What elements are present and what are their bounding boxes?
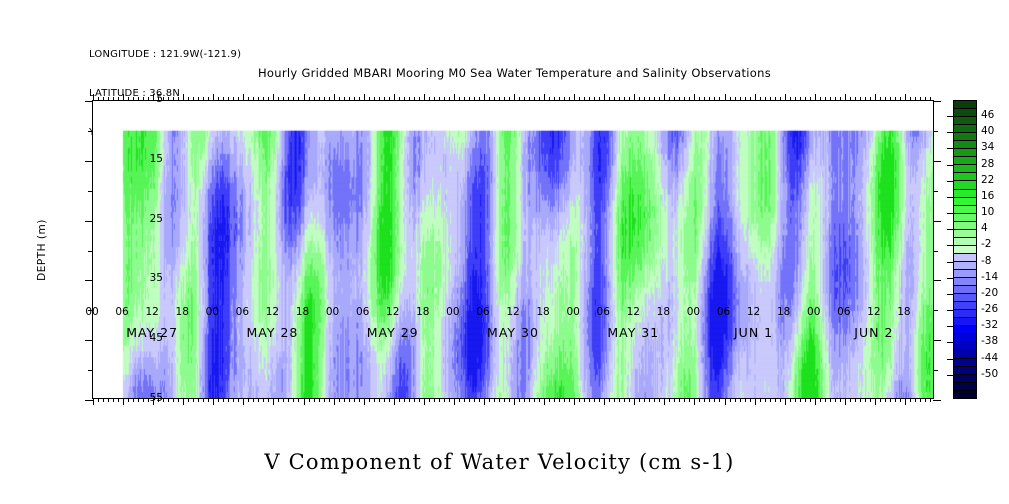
x-tick (790, 398, 791, 402)
x-tick-top (263, 97, 264, 101)
colorbar-band (954, 181, 976, 189)
y-tick (85, 101, 93, 102)
x-tick-top (454, 94, 455, 101)
colorbar-tick (947, 197, 954, 198)
x-tick (233, 398, 234, 402)
x-tick-top (339, 97, 340, 101)
colorbar-band (954, 367, 976, 375)
x-tick (795, 398, 796, 402)
y-axis-title-label: DEPTH (m) (36, 219, 48, 281)
x-tick-top (930, 97, 931, 101)
colorbar-band (954, 125, 976, 133)
y-tick-label: 25 (123, 213, 163, 225)
x-tick (108, 398, 109, 402)
x-tick-top (569, 97, 570, 101)
colorbar-tick-label: 46 (981, 109, 994, 121)
x-tick-top (609, 97, 610, 101)
x-tick-top (419, 97, 420, 101)
colorbar-tick-label: -14 (981, 271, 998, 283)
x-tick (574, 398, 575, 405)
x-tick-top (679, 97, 680, 101)
x-tick (399, 398, 400, 402)
y-tick-label: 15 (123, 153, 163, 165)
colorbar-tick (947, 342, 954, 343)
x-tick (559, 398, 560, 402)
x-tick (730, 398, 731, 402)
x-tick (524, 398, 525, 402)
x-tick-top (248, 97, 249, 101)
x-tick (479, 398, 480, 402)
x-tick (870, 398, 871, 402)
x-tick (930, 398, 931, 402)
x-tick-top (604, 94, 605, 101)
x-tick (118, 398, 119, 402)
colorbar-band (954, 198, 976, 206)
colorbar-tick (947, 375, 954, 376)
x-tick-top (509, 97, 510, 101)
x-tick-top (659, 97, 660, 101)
x-tick-top (268, 97, 269, 101)
x-tick-top (253, 97, 254, 101)
x-tick-top (584, 97, 585, 101)
y-tick-right (933, 310, 938, 311)
x-tick (850, 398, 851, 402)
x-tick-top (840, 97, 841, 101)
x-tick-top (730, 97, 731, 101)
x-tick (644, 398, 645, 402)
colorbar-band (954, 254, 976, 262)
x-tick (855, 398, 856, 402)
x-tick (925, 398, 926, 402)
x-tick-top (905, 94, 906, 101)
colorbar-tick (947, 229, 954, 230)
x-tick-top (820, 97, 821, 101)
x-tick-top (414, 97, 415, 101)
x-tick (785, 398, 786, 405)
x-tick (579, 398, 580, 402)
colorbar-band (954, 270, 976, 278)
x-tick-top (218, 97, 219, 101)
x-tick-top (479, 97, 480, 101)
x-tick-top (805, 97, 806, 101)
colorbar-tick (947, 165, 954, 166)
x-tick (800, 398, 801, 402)
x-tick-top (178, 97, 179, 101)
colorbar-tick-label: -20 (981, 287, 998, 299)
x-tick (213, 398, 214, 405)
x-tick-top (825, 97, 826, 101)
x-tick-top (283, 97, 284, 101)
x-tick-top (745, 97, 746, 101)
x-tick-top (103, 97, 104, 101)
x-tick (163, 398, 164, 402)
y-tick-right (933, 251, 938, 252)
colorbar-band (954, 359, 976, 367)
x-tick (449, 398, 450, 402)
x-tick (845, 398, 846, 405)
x-tick-top (910, 97, 911, 101)
x-tick-top (409, 97, 410, 101)
x-tick-top (629, 97, 630, 101)
x-tick (98, 398, 99, 402)
colorbar-tick (947, 359, 954, 360)
x-tick-top (379, 97, 380, 101)
x-tick (113, 398, 114, 402)
x-tick-top (830, 97, 831, 101)
x-tick (263, 398, 264, 402)
colorbar-tick (947, 294, 954, 295)
x-tick (875, 398, 876, 405)
x-tick-top (278, 97, 279, 101)
x-tick (243, 398, 244, 405)
colorbar-band (954, 238, 976, 246)
y-tick-label: 55 (123, 392, 163, 404)
x-tick-top (324, 97, 325, 101)
x-tick (253, 398, 254, 402)
colorbar-tick (947, 116, 954, 117)
x-tick (860, 398, 861, 402)
x-hour-label: 18 (884, 306, 924, 318)
colorbar-tick-label: 22 (981, 174, 994, 186)
x-tick (659, 398, 660, 402)
x-tick (354, 398, 355, 402)
x-tick (895, 398, 896, 402)
x-tick (499, 398, 500, 402)
colorbar-tick (947, 213, 954, 214)
x-tick (273, 398, 274, 405)
x-tick (589, 398, 590, 402)
x-tick (489, 398, 490, 402)
y-tick (88, 370, 93, 371)
x-tick (689, 398, 690, 402)
x-tick (760, 398, 761, 402)
x-tick (609, 398, 610, 402)
x-tick (569, 398, 570, 402)
x-tick-top (399, 97, 400, 101)
x-tick-top (349, 97, 350, 101)
x-day-label: MAY 29 (333, 325, 453, 340)
x-tick (374, 398, 375, 402)
x-tick-top (439, 97, 440, 101)
x-tick (188, 398, 189, 402)
x-tick (544, 398, 545, 405)
x-tick-top (870, 97, 871, 101)
x-tick (424, 398, 425, 405)
colorbar-tick-label: 28 (981, 158, 994, 170)
x-day-label: MAY 27 (92, 325, 212, 340)
x-tick-top (499, 97, 500, 101)
x-tick (93, 398, 94, 405)
x-tick-top (850, 97, 851, 101)
x-tick-top (639, 97, 640, 101)
longitude-text: LONGITUDE : 121.9W(-121.9) (89, 48, 241, 61)
colorbar-band (954, 165, 976, 173)
x-tick-top (810, 97, 811, 101)
colorbar-band (954, 334, 976, 342)
colorbar-band (954, 117, 976, 125)
x-tick (404, 398, 405, 402)
colorbar-tick (947, 326, 954, 327)
x-tick (564, 398, 565, 402)
x-tick-top (714, 97, 715, 101)
x-tick (599, 398, 600, 402)
x-tick-top (113, 97, 114, 101)
x-tick-top (694, 94, 695, 101)
x-tick (584, 398, 585, 402)
x-tick-top (684, 97, 685, 101)
x-tick-top (228, 97, 229, 101)
colorbar-tick-label: -44 (981, 352, 998, 364)
figure-root: LONGITUDE : 121.9W(-121.9) LATITUDE : 36… (0, 0, 1009, 504)
x-tick-top (329, 97, 330, 101)
x-tick-top (314, 97, 315, 101)
x-tick (248, 398, 249, 402)
x-tick (534, 398, 535, 402)
x-tick-top (835, 97, 836, 101)
x-tick (474, 398, 475, 402)
x-tick-top (890, 97, 891, 101)
x-tick (825, 398, 826, 402)
x-tick (444, 398, 445, 402)
colorbar-tick-label: -32 (981, 319, 998, 331)
x-tick-top (689, 97, 690, 101)
x-tick-top (213, 94, 214, 101)
x-tick (494, 398, 495, 402)
x-tick-top (865, 97, 866, 101)
colorbar-band (954, 101, 976, 109)
x-tick-top (855, 97, 856, 101)
x-tick (639, 398, 640, 402)
x-day-label: JUN 1 (694, 325, 814, 340)
colorbar-tick-label: 40 (981, 125, 994, 137)
colorbar-band (954, 133, 976, 141)
x-tick-top (243, 94, 244, 101)
x-tick (549, 398, 550, 402)
y-tick (85, 161, 93, 162)
x-tick (629, 398, 630, 402)
x-tick (298, 398, 299, 402)
x-tick (394, 398, 395, 405)
x-tick (379, 398, 380, 402)
x-tick-top (579, 97, 580, 101)
y-tick-label: 5 (123, 93, 163, 105)
x-tick-top (208, 97, 209, 101)
x-tick-top (915, 97, 916, 101)
x-tick (765, 398, 766, 402)
x-tick-top (334, 94, 335, 101)
colorbar-band (954, 350, 976, 358)
x-tick (459, 398, 460, 402)
x-tick-top (514, 94, 515, 101)
x-tick-top (664, 94, 665, 101)
colorbar-band (954, 391, 976, 398)
x-tick-top (389, 97, 390, 101)
x-tick (890, 398, 891, 402)
x-tick-top (619, 97, 620, 101)
colorbar-tick-label: -26 (981, 303, 998, 315)
x-tick (780, 398, 781, 402)
x-tick-top (770, 97, 771, 101)
x-tick (439, 398, 440, 402)
x-tick (349, 398, 350, 402)
x-tick (915, 398, 916, 402)
colorbar-band (954, 230, 976, 238)
x-tick-top (459, 97, 460, 101)
x-tick-top (344, 97, 345, 101)
x-day-label: MAY 30 (453, 325, 573, 340)
y-tick (88, 191, 93, 192)
y-tick-label: 35 (123, 272, 163, 284)
x-tick (750, 398, 751, 402)
x-tick-top (845, 94, 846, 101)
colorbar-band (954, 302, 976, 310)
x-tick-top (594, 97, 595, 101)
x-tick-top (474, 97, 475, 101)
colorbar-tick-label: -2 (981, 238, 991, 250)
x-tick-top (735, 97, 736, 101)
x-tick (309, 398, 310, 402)
x-tick-top (644, 97, 645, 101)
y-tick-right (933, 340, 941, 341)
x-tick-top (163, 97, 164, 101)
x-tick (835, 398, 836, 402)
x-tick (419, 398, 420, 402)
x-tick (319, 398, 320, 402)
x-tick (634, 398, 635, 405)
x-tick-top (93, 94, 94, 101)
x-tick-top (654, 97, 655, 101)
colorbar-band (954, 214, 976, 222)
x-tick (619, 398, 620, 402)
x-tick (339, 398, 340, 402)
x-tick (369, 398, 370, 402)
colorbar-tick (947, 262, 954, 263)
x-tick (414, 398, 415, 402)
x-tick-top (549, 97, 550, 101)
x-tick (268, 398, 269, 402)
x-tick (409, 398, 410, 402)
x-tick-top (624, 97, 625, 101)
x-tick-top (815, 94, 816, 101)
heatmap-canvas (93, 101, 933, 398)
x-tick (529, 398, 530, 402)
x-tick (735, 398, 736, 402)
x-tick (283, 398, 284, 402)
x-tick-top (740, 97, 741, 101)
x-tick-top (669, 97, 670, 101)
x-tick-top (364, 94, 365, 101)
x-tick-top (309, 97, 310, 101)
plot-title: Hourly Gridded MBARI Mooring M0 Sea Wate… (0, 66, 1009, 80)
x-tick (173, 398, 174, 402)
x-tick (709, 398, 710, 402)
x-tick-top (875, 94, 876, 101)
x-tick-top (173, 97, 174, 101)
x-tick-top (544, 94, 545, 101)
x-tick (389, 398, 390, 402)
x-tick-top (394, 94, 395, 101)
x-tick-top (925, 97, 926, 101)
x-tick (770, 398, 771, 402)
colorbar-band (954, 342, 976, 350)
colorbar-tick-label: 34 (981, 141, 994, 153)
x-tick-top (895, 97, 896, 101)
x-tick (464, 398, 465, 402)
x-tick-top (238, 97, 239, 101)
x-tick (539, 398, 540, 402)
x-tick-top (750, 97, 751, 101)
x-tick (554, 398, 555, 402)
x-tick-top (559, 97, 560, 101)
x-tick (674, 398, 675, 402)
x-tick (103, 398, 104, 402)
x-tick (208, 398, 209, 402)
x-tick-top (429, 97, 430, 101)
y-tick-right (933, 131, 938, 132)
x-tick-top (183, 94, 184, 101)
x-tick-top (484, 94, 485, 101)
x-tick (865, 398, 866, 402)
x-tick-top (589, 97, 590, 101)
x-tick-top (780, 97, 781, 101)
x-tick (624, 398, 625, 402)
x-tick-top (785, 94, 786, 101)
x-tick-top (755, 94, 756, 101)
y-tick-right (933, 161, 941, 162)
y-tick (88, 131, 93, 132)
x-tick (920, 398, 921, 402)
x-tick-top (359, 97, 360, 101)
x-tick (454, 398, 455, 405)
x-tick (654, 398, 655, 402)
x-tick (805, 398, 806, 402)
x-tick-top (188, 97, 189, 101)
colorbar-band (954, 222, 976, 230)
colorbar-band (954, 149, 976, 157)
y-tick-right (933, 400, 941, 401)
x-tick (649, 398, 650, 402)
colorbar-band (954, 326, 976, 334)
x-tick-top (709, 97, 710, 101)
x-tick (218, 398, 219, 402)
x-tick-top (293, 97, 294, 101)
x-tick (905, 398, 906, 405)
x-tick-top (519, 97, 520, 101)
x-tick-top (725, 94, 726, 101)
x-tick (594, 398, 595, 402)
colorbar-band (954, 294, 976, 302)
x-tick-top (98, 97, 99, 101)
x-tick (434, 398, 435, 402)
x-tick-top (494, 97, 495, 101)
y-tick-right (933, 370, 938, 371)
x-tick (740, 398, 741, 402)
x-tick-top (524, 97, 525, 101)
x-tick-top (554, 97, 555, 101)
colorbar-tick-label: 10 (981, 206, 994, 218)
x-tick-top (384, 97, 385, 101)
colorbar-tick (947, 132, 954, 133)
x-tick (193, 398, 194, 402)
colorbar-band (954, 141, 976, 149)
colorbar-band (954, 206, 976, 214)
colorbar-band (954, 246, 976, 254)
y-tick (85, 340, 93, 341)
x-tick (880, 398, 881, 402)
colorbar-band (954, 318, 976, 326)
x-tick-top (304, 94, 305, 101)
x-day-label: MAY 28 (212, 325, 332, 340)
